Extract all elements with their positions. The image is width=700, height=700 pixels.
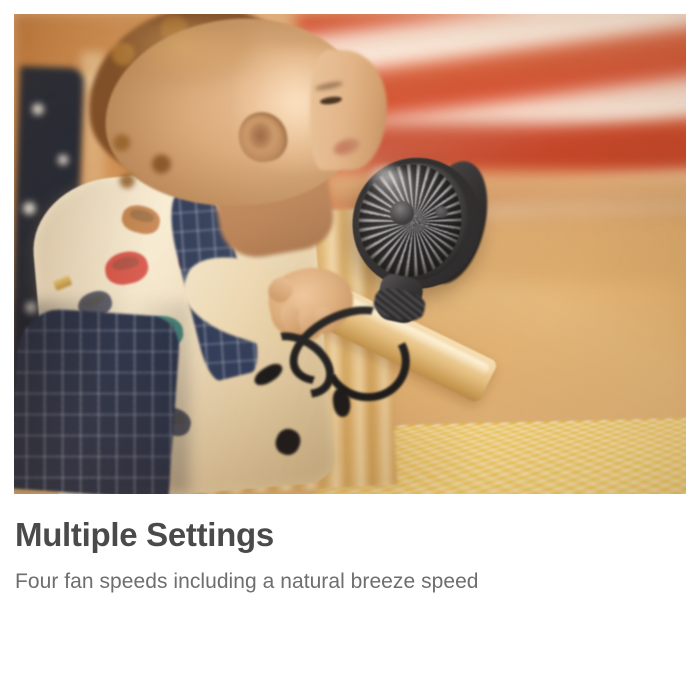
feature-title: Multiple Settings <box>15 516 665 554</box>
photo-scene <box>14 14 686 494</box>
clip-on-fan <box>14 14 686 494</box>
product-photo <box>14 14 686 494</box>
fan-leg-tip-2 <box>272 426 304 459</box>
caption-block: Multiple Settings Four fan speeds includ… <box>15 516 665 597</box>
feature-card: Multiple Settings Four fan speeds includ… <box>0 0 700 700</box>
feature-description: Four fan speeds including a natural bree… <box>15 566 575 597</box>
